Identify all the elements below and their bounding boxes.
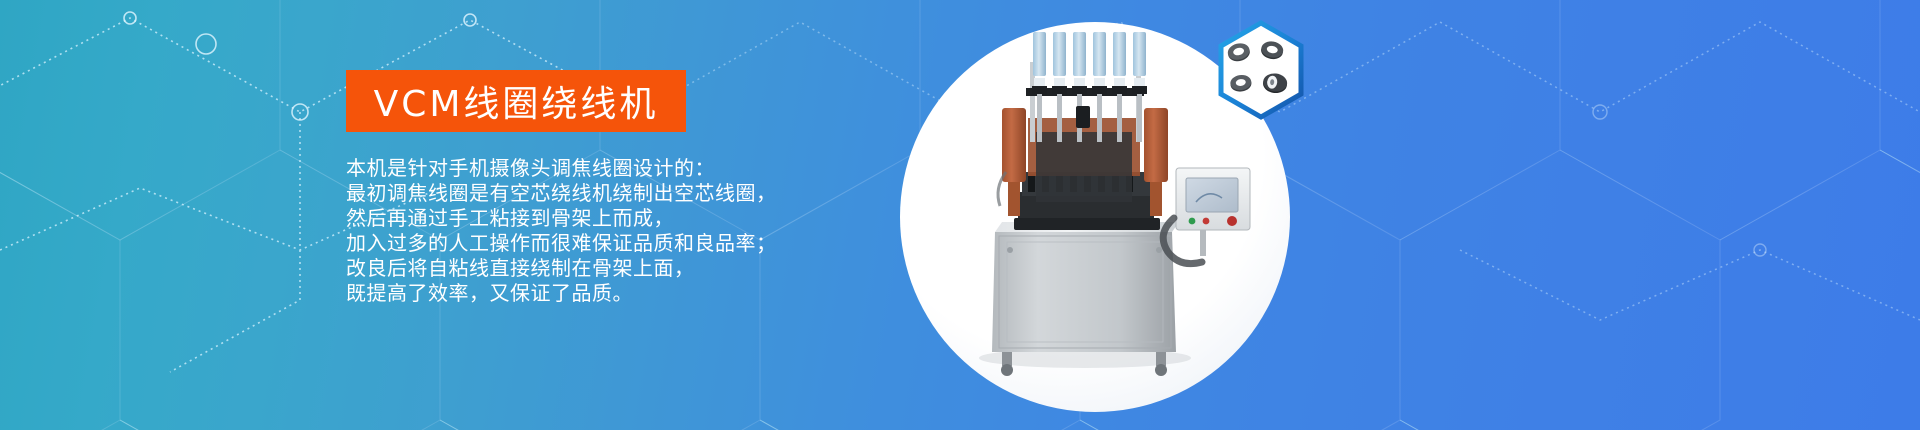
page-title: VCM线圈绕线机	[374, 75, 659, 127]
coil-products-hexagon-badge	[1215, 20, 1307, 120]
description-line: 加入过多的人工操作而很难保证品质和良品率；	[346, 231, 966, 256]
description-line: 既提高了效率，又保证了品质。	[346, 281, 966, 306]
banner-description: 本机是针对手机摄像头调焦线圈设计的： 最初调焦线圈是有空芯绕线机绕制出空芯线圈，…	[346, 156, 966, 306]
product-banner: VCM线圈绕线机 本机是针对手机摄像头调焦线圈设计的： 最初调焦线圈是有空芯绕线…	[0, 0, 1920, 430]
description-line: 改良后将自粘线直接绕制在骨架上面，	[346, 256, 966, 281]
description-line: 本机是针对手机摄像头调焦线圈设计的：	[346, 156, 966, 181]
banner-title-plate: VCM线圈绕线机	[346, 70, 686, 132]
product-showcase	[900, 0, 1330, 430]
description-line: 最初调焦线圈是有空芯绕线机绕制出空芯线圈，	[346, 181, 966, 206]
description-line: 然后再通过手工粘接到骨架上而成，	[346, 206, 966, 231]
